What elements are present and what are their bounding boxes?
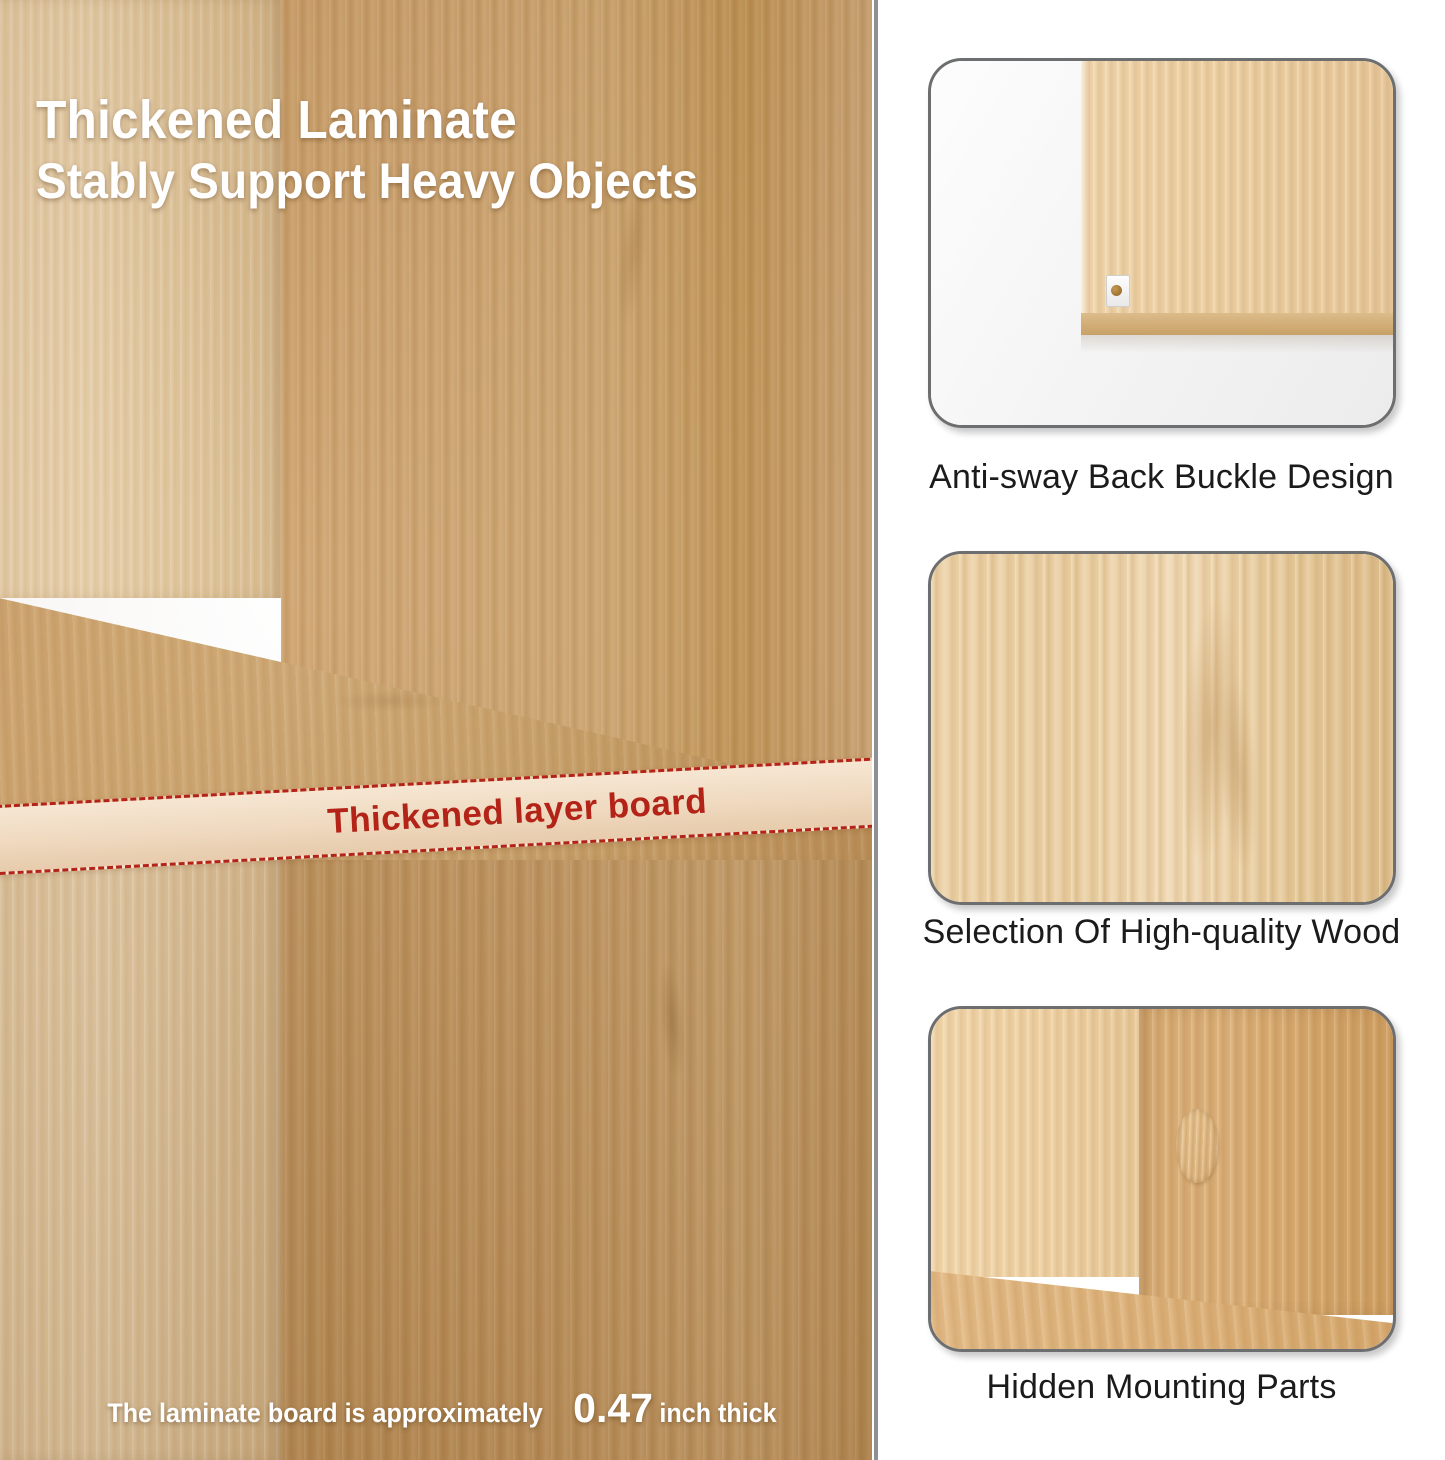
panel-bottom-edge — [1081, 313, 1393, 335]
panel-left-edge — [1081, 61, 1090, 329]
feature-thumbnail-hidden-mounting — [928, 1006, 1396, 1352]
cabinet-left-panel — [931, 1009, 1139, 1277]
headline-line-1: Thickened Laminate — [36, 92, 790, 149]
headline-line-2: Stably Support Heavy Objects — [36, 153, 790, 209]
thickness-caption: The laminate board is approximately 0.47… — [0, 1385, 872, 1432]
thickness-caption-suffix: inch thick — [659, 1398, 776, 1429]
panel-drop-shadow — [1081, 335, 1393, 353]
product-feature-infographic: Thickened Laminate Stably Support Heavy … — [0, 0, 1445, 1460]
hero-headline: Thickened Laminate Stably Support Heavy … — [36, 92, 856, 209]
feature-thumbnail-wood-quality — [928, 551, 1396, 905]
feature-caption-hidden-mounting: Hidden Mounting Parts — [878, 1368, 1445, 1407]
feature-thumbnail-anti-sway — [928, 58, 1396, 428]
hero-shelf-photo: Thickened Laminate Stably Support Heavy … — [0, 0, 872, 1460]
thickness-value: 0.47 — [573, 1385, 653, 1432]
feature-caption-anti-sway: Anti-sway Back Buckle Design — [878, 458, 1445, 497]
callout-band-label: Thickened layer board — [326, 782, 708, 842]
lower-side-panel — [0, 830, 281, 1460]
wood-grain-swatch — [931, 554, 1393, 902]
bracket-screw-icon — [1111, 285, 1122, 296]
feature-rail: Anti-sway Back Buckle Design Selection O… — [878, 0, 1445, 1460]
dowel-cover-cap-icon — [1176, 1109, 1218, 1183]
feature-caption-wood-quality: Selection Of High-quality Wood — [878, 913, 1445, 952]
thickness-caption-prefix: The laminate board is approximately — [107, 1398, 542, 1429]
